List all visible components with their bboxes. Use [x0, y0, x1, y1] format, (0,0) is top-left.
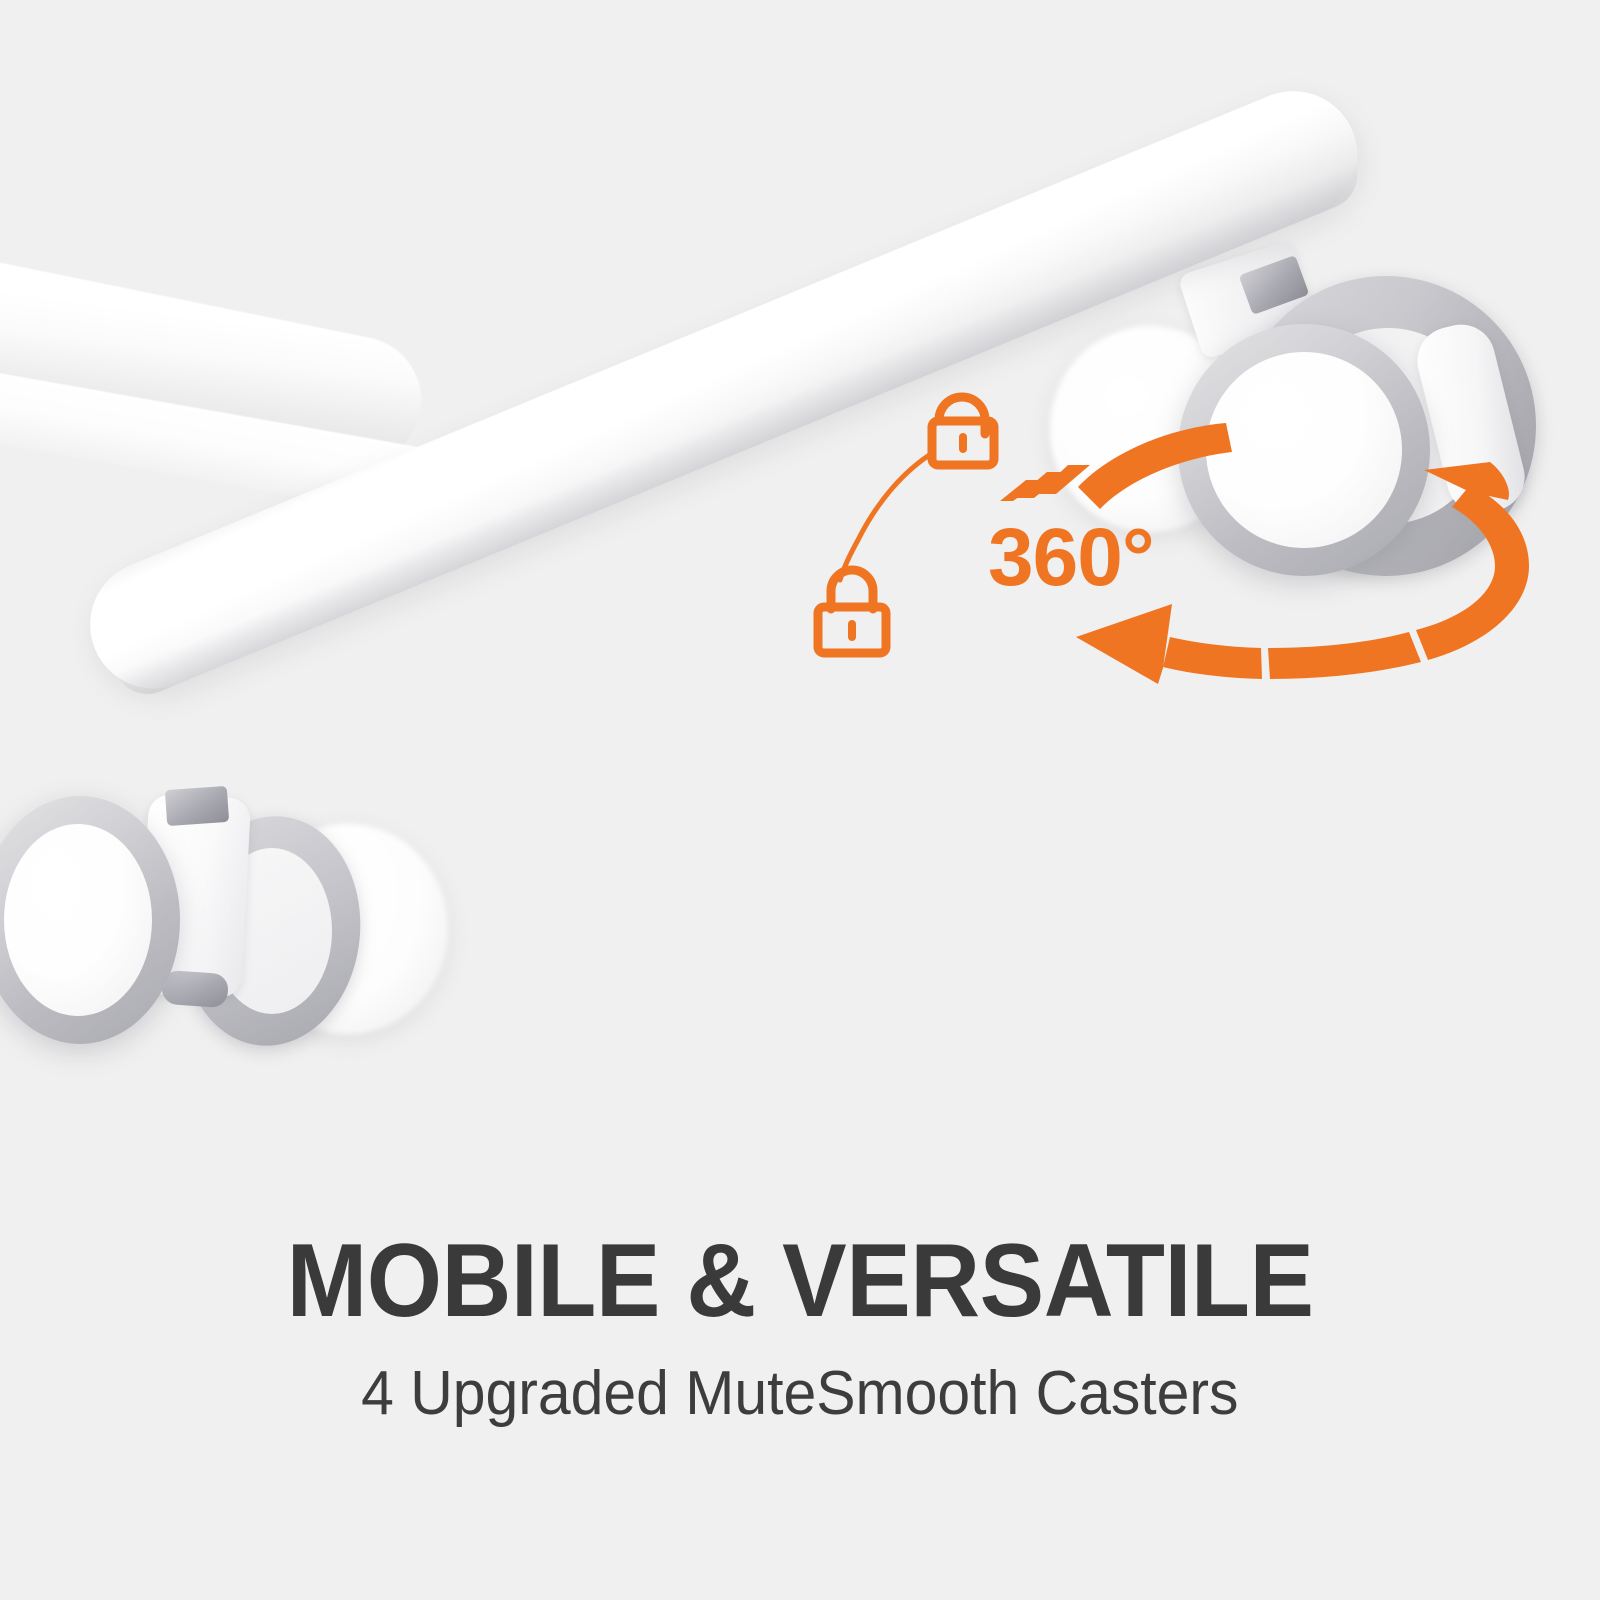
curved-arc-icon — [840, 452, 934, 580]
caster-axle-nut — [165, 786, 229, 826]
caption-block: MOBILE & VERSATILE 4 Upgraded MuteSmooth… — [0, 1180, 1600, 1600]
caster-wheel-hub — [1206, 352, 1402, 548]
caster-axle-nut-lower — [161, 970, 229, 1009]
padlock-closed-icon — [818, 570, 886, 653]
caster-wheel-top-right — [1040, 250, 1560, 610]
padlock-open-icon — [932, 397, 994, 465]
product-feature-banner: 360° MOBILE & VERSATILE 4 Upgraded MuteS… — [0, 0, 1600, 1600]
product-photo: 360° — [0, 0, 1600, 1180]
headline: MOBILE & VERSATILE — [287, 1228, 1314, 1334]
subheadline: 4 Upgraded MuteSmooth Casters — [361, 1360, 1238, 1428]
caster-wheel-bottom-left — [0, 740, 460, 1100]
caster-wheel-hub — [4, 824, 152, 1016]
